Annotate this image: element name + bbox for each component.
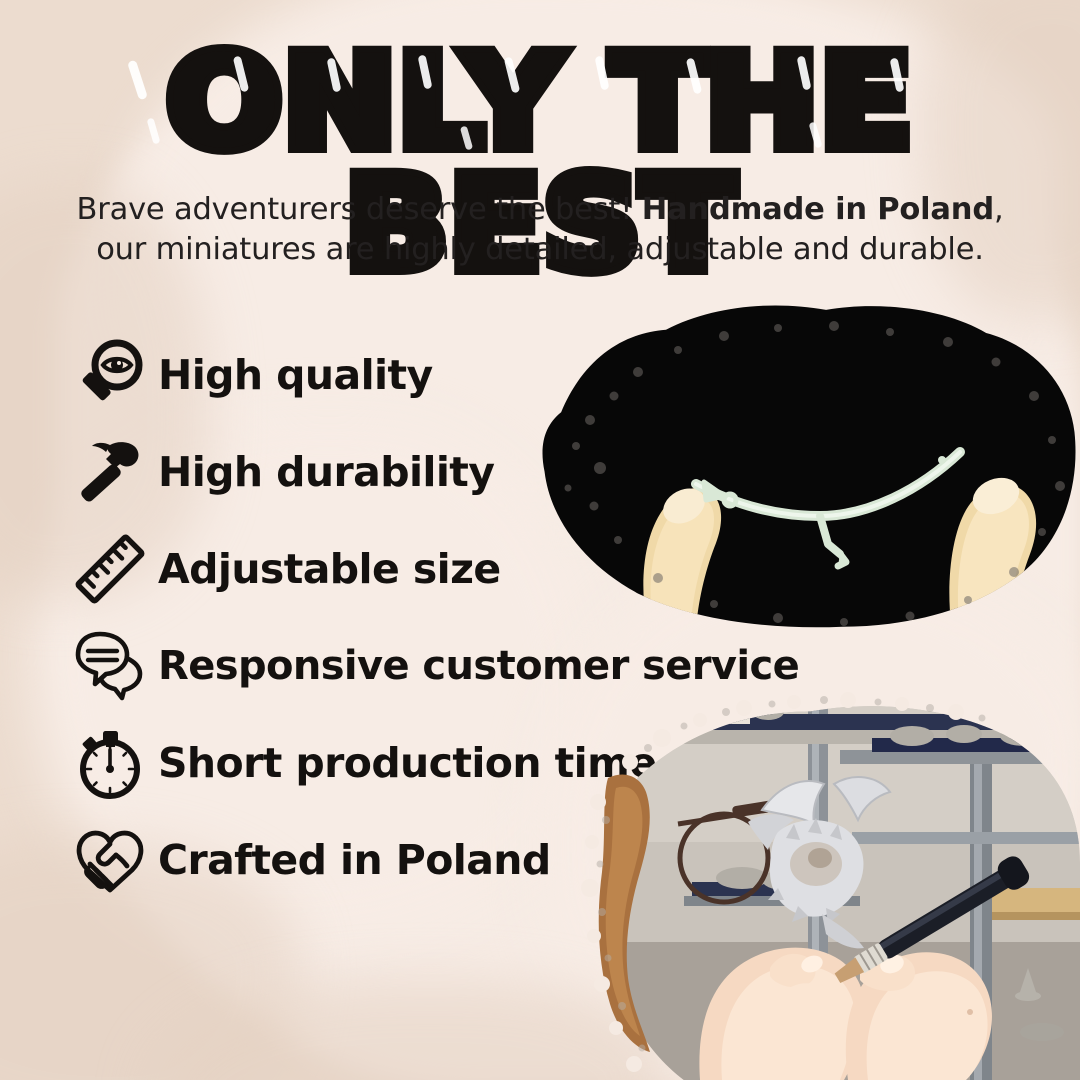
subtitle: Brave adventurers deserve the best! Hand… (60, 190, 1020, 271)
flexible-miniature-photo (528, 300, 1080, 630)
subtitle-highlight: Handmade in Poland (642, 192, 994, 227)
promo-poster: ONLY THE BEST Brave adventurers deserve … (0, 0, 1080, 1080)
stopwatch-icon (62, 720, 158, 806)
workshop-painting-photo (572, 692, 1080, 1080)
feature-label: Crafted in Poland (158, 836, 551, 884)
feature-label: Adjustable size (158, 545, 501, 593)
handshake-heart-icon (62, 817, 158, 903)
subtitle-lead: Brave adventurers deserve the best! (77, 192, 642, 227)
feature-label: Responsive customer service (158, 643, 799, 689)
subtitle-line-1: Brave adventurers deserve the best! Hand… (60, 190, 1020, 230)
feature-label: High durability (158, 448, 494, 496)
ruler-icon (62, 526, 158, 612)
magnifier-eye-icon (62, 332, 158, 418)
subtitle-tail: , (994, 192, 1004, 227)
feature-label: High quality (158, 351, 433, 399)
chat-bubbles-icon (62, 623, 158, 709)
subtitle-line-2: our miniatures are highly detailed, adju… (60, 230, 1020, 270)
hammer-icon (62, 429, 158, 515)
